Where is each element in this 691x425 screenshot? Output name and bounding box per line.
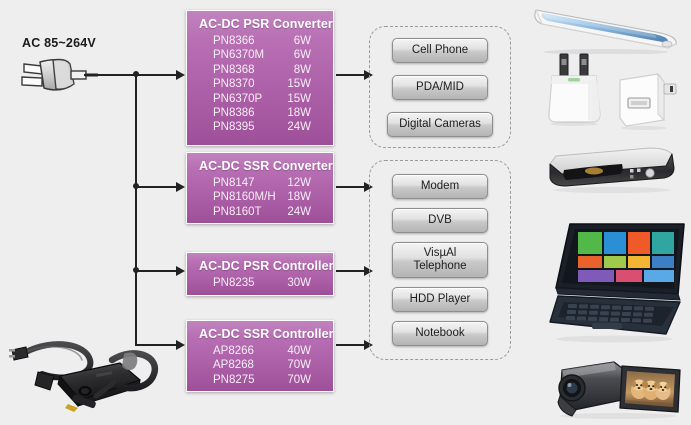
part-number: PN8368 [213, 63, 255, 77]
app-button-modem[interactable]: Modem [392, 174, 488, 199]
chip-part-row: PN6370M 6W [199, 48, 321, 62]
part-number: PN8366 [213, 34, 255, 48]
diagram-canvas: AC 85~264V [0, 0, 691, 423]
part-number: PN8386 [213, 106, 255, 120]
wire-branch-2 [135, 186, 177, 188]
power-adapter-photo [8, 330, 160, 412]
chip-part-row: PN8275 70W [199, 373, 321, 387]
usb-charger-cube-photo [614, 68, 680, 130]
chip-block-ssr-controller[interactable]: AC-DC SSR Controller AP8266 40W AP8268 7… [186, 320, 334, 392]
part-number: PN8370 [213, 77, 255, 91]
arrow-branch-4 [176, 340, 185, 350]
app-button-digital-cameras[interactable]: Digital Cameras [387, 112, 493, 137]
chip-block-title: AC-DC SSR Converter [199, 159, 321, 173]
usb-charger-photo [544, 50, 606, 126]
wire-branch-4 [135, 344, 177, 346]
wire-branch-1 [135, 74, 177, 76]
wire-chip2-to-apps [336, 186, 366, 188]
part-number: AP8266 [213, 344, 254, 358]
part-power: 70W [281, 373, 311, 387]
part-number: PN8160T [213, 205, 262, 219]
chip-block-title: AC-DC SSR Controller [199, 327, 321, 341]
chip-block-psr-converter[interactable]: AC-DC PSR Converter PN8366 6W PN6370M 6W… [186, 10, 334, 146]
chip-part-row: PN8160M/H 18W [199, 190, 321, 204]
chip-part-row: PN8395 24W [199, 120, 321, 134]
app-button-hdd-player[interactable]: HDD Player [392, 287, 488, 312]
part-number: PN8395 [213, 120, 255, 134]
convertible-laptop-photo [548, 222, 688, 346]
app-button-cell-phone[interactable]: Cell Phone [392, 38, 488, 63]
camcorder-photo [548, 352, 688, 420]
app-button-pda-mid[interactable]: PDA/MID [392, 75, 488, 100]
part-number: PN8275 [213, 373, 255, 387]
chip-part-row: PN8366 6W [199, 34, 321, 48]
application-group-portable-devices: Cell Phone PDA/MID Digital Cameras [369, 26, 511, 148]
part-power: 18W [281, 190, 311, 204]
part-number: PN8235 [213, 276, 255, 290]
chip-part-row: AP8268 70W [199, 358, 321, 372]
part-number: PN8147 [213, 176, 255, 190]
chip-part-row: PN8368 8W [199, 63, 321, 77]
part-power: 18W [281, 106, 311, 120]
part-power: 6W [281, 48, 311, 62]
wire-branch-3 [135, 270, 177, 272]
wire-chip4-to-apps [336, 344, 366, 346]
smartphone-photo [528, 2, 686, 54]
chip-part-row: PN8235 30W [199, 276, 321, 290]
part-power: 40W [281, 344, 311, 358]
wire-vertical-bus [135, 74, 137, 346]
part-power: 8W [281, 63, 311, 77]
wire-source-to-bus [84, 74, 138, 76]
part-power: 6W [281, 34, 311, 48]
part-power: 15W [281, 77, 311, 91]
chip-part-row: PN8160T 24W [199, 205, 321, 219]
chip-block-title: AC-DC PSR Converter [199, 17, 321, 31]
arrow-branch-3 [176, 266, 185, 276]
part-power: 12W [281, 176, 311, 190]
part-number: PN6370P [213, 92, 262, 106]
wire-chip1-to-apps [336, 74, 366, 76]
chip-part-row: PN6370P 15W [199, 92, 321, 106]
application-group-home-computing-devices: Modem DVB VisµAl Telephone HDD Player No… [369, 160, 511, 360]
chip-part-row: PN8147 12W [199, 176, 321, 190]
chip-part-row: AP8266 40W [199, 344, 321, 358]
chip-part-row: PN8370 15W [199, 77, 321, 91]
set-top-box-photo [538, 142, 684, 196]
part-power: 24W [281, 120, 311, 134]
part-number: PN8160M/H [213, 190, 276, 204]
part-power: 30W [281, 276, 311, 290]
ac-plug-icon [20, 55, 98, 97]
part-power: 70W [281, 358, 311, 372]
part-power: 24W [281, 205, 311, 219]
input-voltage-label: AC 85~264V [22, 36, 96, 50]
part-number: PN6370M [213, 48, 264, 62]
app-button-notebook[interactable]: Notebook [392, 321, 488, 346]
app-button-visual-telephone[interactable]: VisµAl Telephone [392, 242, 488, 278]
part-power: 15W [281, 92, 311, 106]
app-button-dvb[interactable]: DVB [392, 208, 488, 233]
part-number: AP8268 [213, 358, 254, 372]
arrow-branch-2 [176, 182, 185, 192]
arrow-branch-1 [176, 70, 185, 80]
chip-part-row: PN8386 18W [199, 106, 321, 120]
wire-chip3-to-apps [336, 270, 366, 272]
chip-block-title: AC-DC PSR Controller [199, 259, 321, 273]
chip-block-ssr-converter[interactable]: AC-DC SSR Converter PN8147 12W PN8160M/H… [186, 152, 334, 224]
chip-block-psr-controller[interactable]: AC-DC PSR Controller PN8235 30W [186, 252, 334, 296]
